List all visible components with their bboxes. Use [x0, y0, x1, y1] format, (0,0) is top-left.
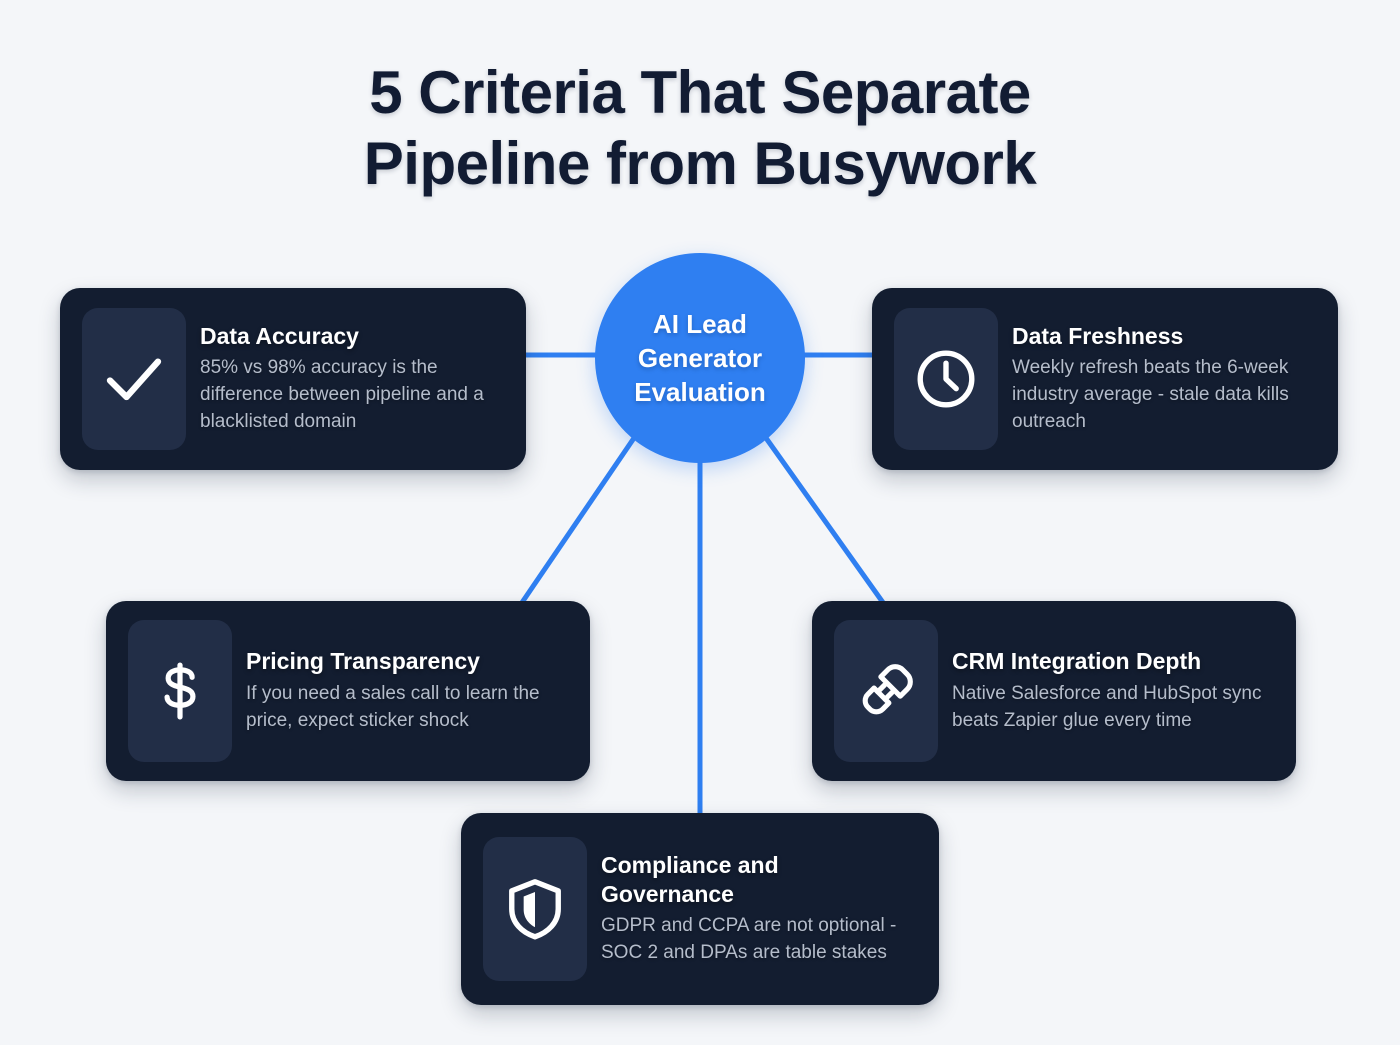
hub-label: AI Lead Generator Evaluation [624, 307, 775, 410]
card-body: CRM Integration Depth Native Salesforce … [952, 647, 1274, 734]
icon-tile [834, 620, 938, 762]
card-title: Data Freshness [1012, 322, 1316, 351]
icon-tile [128, 620, 232, 762]
card-body: Data Freshness Weekly refresh beats the … [1012, 322, 1316, 436]
clock-icon [912, 345, 980, 413]
criteria-card-pricing-transparency[interactable]: Pricing Transparency If you need a sales… [106, 601, 590, 781]
plug-icon [851, 656, 921, 726]
criteria-card-crm-integration-depth[interactable]: CRM Integration Depth Native Salesforce … [812, 601, 1296, 781]
icon-tile [82, 308, 186, 450]
infographic-canvas: 5 Criteria That Separate Pipeline from B… [0, 0, 1400, 1045]
card-body: Data Accuracy 85% vs 98% accuracy is the… [200, 322, 504, 436]
card-title: Data Accuracy [200, 322, 504, 351]
criteria-card-data-accuracy[interactable]: Data Accuracy 85% vs 98% accuracy is the… [60, 288, 526, 470]
card-body: Compliance and Governance GDPR and CCPA … [601, 851, 917, 968]
criteria-card-compliance-and-governance[interactable]: Compliance and Governance GDPR and CCPA … [461, 813, 939, 1005]
card-title: CRM Integration Depth [952, 647, 1274, 676]
card-body: Pricing Transparency If you need a sales… [246, 647, 568, 734]
criteria-card-data-freshness[interactable]: Data Freshness Weekly refresh beats the … [872, 288, 1338, 470]
card-description: 85% vs 98% accuracy is the difference be… [200, 355, 504, 436]
icon-tile [483, 837, 587, 981]
card-title: Compliance and Governance [601, 851, 917, 910]
hub-node[interactable]: AI Lead Generator Evaluation [595, 253, 805, 463]
connector-hub-to-crm-integration-depth [766, 438, 884, 604]
check-icon [98, 343, 170, 415]
dollar-icon [147, 658, 213, 724]
card-title: Pricing Transparency [246, 647, 568, 676]
card-description: Native Salesforce and HubSpot sync beats… [952, 681, 1274, 735]
icon-tile [894, 308, 998, 450]
connector-hub-to-pricing-transparency [521, 438, 634, 604]
card-description: Weekly refresh beats the 6-week industry… [1012, 355, 1316, 436]
shield-icon [501, 875, 569, 943]
card-description: GDPR and CCPA are not optional - SOC 2 a… [601, 913, 917, 967]
card-description: If you need a sales call to learn the pr… [246, 681, 568, 735]
